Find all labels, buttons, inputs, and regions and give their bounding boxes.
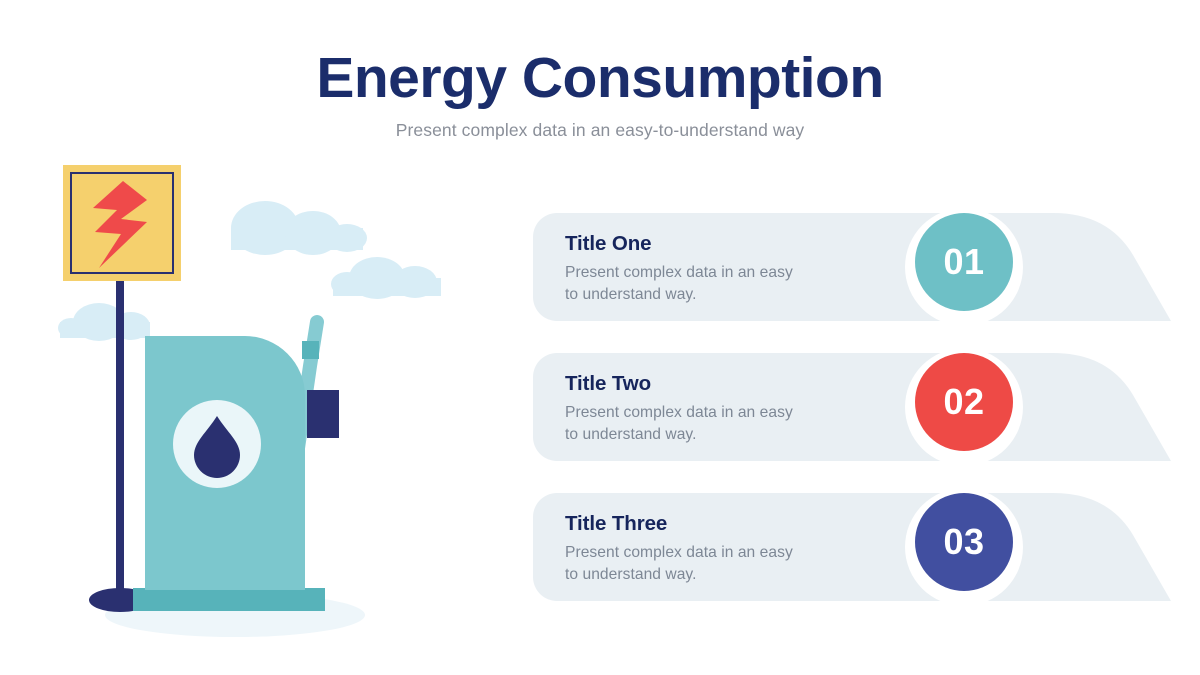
- fuel-nozzle: [307, 390, 339, 438]
- card-text-3: Title Three Present complex data in an e…: [565, 512, 895, 586]
- card-description-line2: to understand way.: [565, 426, 697, 443]
- card-description-line1: Present complex data in an easy: [565, 544, 793, 561]
- card-description: Present complex data in an easy to under…: [565, 542, 895, 586]
- page-subtitle: Present complex data in an easy-to-under…: [0, 120, 1200, 141]
- badge-ring-2: 02: [905, 348, 1023, 466]
- cloud-right: [331, 257, 441, 299]
- info-card-1[interactable]: Title One Present complex data in an eas…: [533, 213, 1200, 321]
- card-title: Title Three: [565, 512, 895, 536]
- cloud-top: [231, 201, 367, 255]
- card-text-1: Title One Present complex data in an eas…: [565, 232, 895, 306]
- card-description: Present complex data in an easy to under…: [565, 402, 895, 446]
- hose-connector: [302, 341, 319, 359]
- card-title: Title Two: [565, 372, 895, 396]
- info-card-2[interactable]: Title Two Present complex data in an eas…: [533, 353, 1200, 461]
- card-text-2: Title Two Present complex data in an eas…: [565, 372, 895, 446]
- card-description-line1: Present complex data in an easy: [565, 404, 793, 421]
- info-card-3[interactable]: Title Three Present complex data in an e…: [533, 493, 1200, 601]
- card-description-line2: to understand way.: [565, 286, 697, 303]
- step-number-badge-1[interactable]: 01: [915, 213, 1013, 311]
- card-title: Title One: [565, 232, 895, 256]
- step-number-badge-3[interactable]: 03: [915, 493, 1013, 591]
- card-description-line2: to understand way.: [565, 566, 697, 583]
- sign-pole: [116, 240, 124, 600]
- cloud-left: [58, 303, 150, 341]
- badge-ring-1: 01: [905, 208, 1023, 326]
- badge-ring-3: 03: [905, 488, 1023, 606]
- header: Energy Consumption Present complex data …: [0, 48, 1200, 141]
- slide-root: Energy Consumption Present complex data …: [0, 0, 1200, 675]
- fuel-pump-illustration: [55, 150, 495, 650]
- card-description: Present complex data in an easy to under…: [565, 262, 895, 306]
- card-description-line1: Present complex data in an easy: [565, 264, 793, 281]
- page-title: Energy Consumption: [0, 48, 1200, 110]
- step-number-badge-2[interactable]: 02: [915, 353, 1013, 451]
- pump-base: [133, 588, 325, 611]
